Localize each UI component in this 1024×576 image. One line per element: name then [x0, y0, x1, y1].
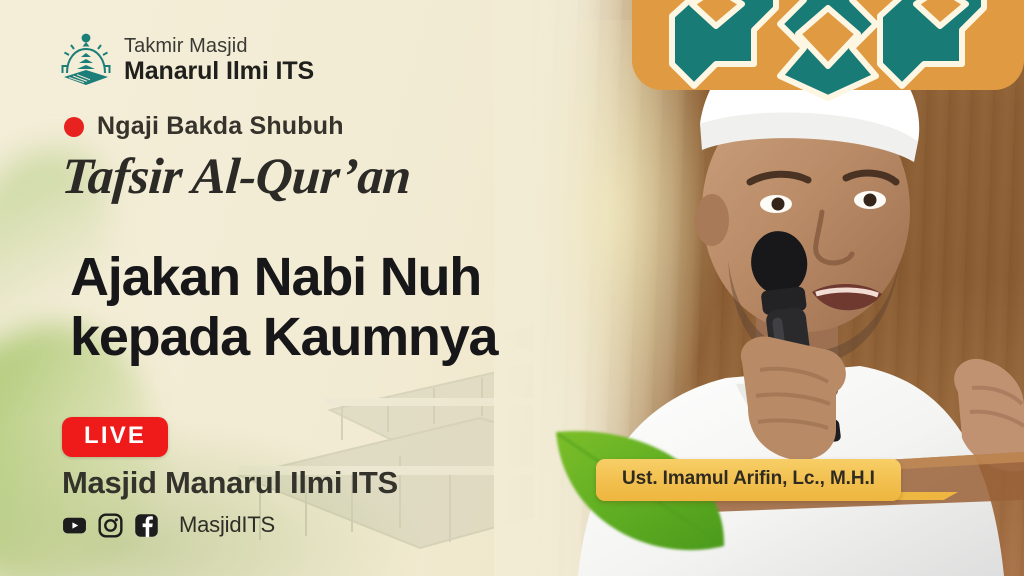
social-links: MasjidITS — [62, 512, 275, 538]
youtube-icon[interactable] — [62, 513, 87, 538]
kicker-label: Ngaji Bakda Shubuh — [97, 112, 344, 141]
live-red-dot-icon — [64, 117, 84, 137]
program-kicker: Ngaji Bakda Shubuh — [64, 112, 344, 141]
headline-line-2: kepada Kaumnya — [70, 308, 590, 368]
mosque-gear-emblem-icon — [60, 33, 112, 87]
status-badge: LIVE — [62, 417, 168, 457]
brand-line-2: Manarul Ilmi ITS — [124, 59, 314, 84]
live-stream-poster: Takmir Masjid Manarul Ilmi ITS Ngaji Bak… — [0, 0, 1024, 576]
program-script-title: Tafsir Al-Qur’an — [60, 148, 413, 206]
instagram-icon[interactable] — [98, 513, 123, 538]
brand-line-1: Takmir Masjid — [124, 36, 314, 56]
venue-name: Masjid Manarul Ilmi ITS — [62, 465, 398, 501]
social-handle: MasjidITS — [179, 512, 275, 538]
speaker-name-banner: Ust. Imamul Arifin, Lc., M.H.I — [596, 459, 901, 501]
content-column: Takmir Masjid Manarul Ilmi ITS Ngaji Bak… — [0, 0, 600, 576]
page-title: Ajakan Nabi Nuh kepada Kaumnya — [70, 248, 590, 368]
facebook-icon[interactable] — [134, 513, 159, 538]
headline-line-1: Ajakan Nabi Nuh — [70, 248, 590, 308]
islamic-geometric-ornament — [632, 0, 1024, 102]
brand-logo: Takmir Masjid Manarul Ilmi ITS — [60, 33, 314, 87]
